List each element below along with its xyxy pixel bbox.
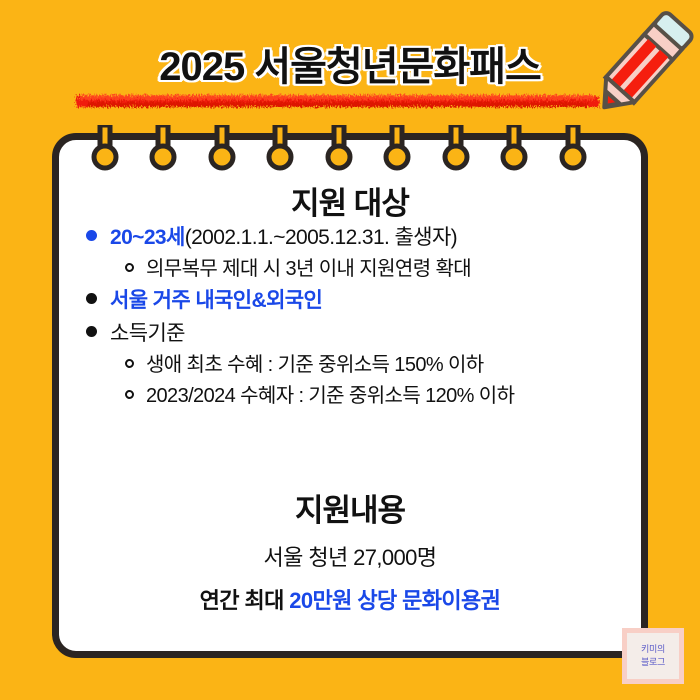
- list-item: 의무복무 제대 시 3년 이내 지원연령 확대: [59, 257, 641, 282]
- solid-bullet-icon: [86, 293, 97, 304]
- list-item-text: 2023/2024 수혜자 : 기준 중위소득 120% 이하: [146, 384, 514, 409]
- support-amount-highlight: 20만원 상당 문화이용권: [289, 588, 500, 613]
- support-amount-prefix: 연간 최대: [200, 588, 290, 613]
- watermark-line-1: 키미의: [641, 643, 665, 657]
- list-item-text: 의무복무 제대 시 3년 이내 지원연령 확대: [146, 257, 471, 282]
- content-card: 지원 대상 20~23세(2002.1.1.~2005.12.31. 출생자)의…: [52, 133, 648, 658]
- page-title: 2025 서울청년문화패스: [159, 34, 541, 92]
- support-people-count: 서울 청년 27,000명: [59, 540, 641, 572]
- hollow-bullet-icon: [125, 263, 134, 272]
- list-item-text-part: 서울 거주 내국인&외국인: [110, 289, 322, 312]
- blog-watermark: 키미의 블로그: [622, 628, 684, 684]
- list-item-text-part: 20~23세: [110, 226, 185, 249]
- list-item-text: 생애 최초 수혜 : 기준 중위소득 150% 이하: [146, 353, 484, 378]
- section-heading-support-target: 지원 대상: [59, 178, 641, 223]
- list-item-text-part: 소득기준: [110, 322, 185, 345]
- section-heading-support-content: 지원내용: [59, 485, 641, 530]
- pencil-icon: [585, 4, 697, 126]
- solid-bullet-icon: [86, 326, 97, 337]
- list-item-text: 서울 거주 내국인&외국인: [110, 288, 322, 314]
- list-item-text-part: (2002.1.1.~2005.12.31. 출생자): [185, 226, 457, 249]
- red-marker-stroke-icon: [74, 93, 601, 110]
- list-item-text: 소득기준: [110, 321, 185, 347]
- support-target-list: 20~23세(2002.1.1.~2005.12.31. 출생자)의무복무 제대…: [59, 225, 641, 415]
- list-item-text-part: 의무복무 제대 시 3년 이내 지원연령 확대: [146, 258, 471, 280]
- poster-root: 2025 서울청년문화패스: [0, 0, 700, 700]
- list-item: 생애 최초 수혜 : 기준 중위소득 150% 이하: [59, 353, 641, 378]
- list-item-text-part: 2023/2024 수혜자 : 기준 중위소득 120% 이하: [146, 385, 514, 407]
- list-item-text-part: 생애 최초 수혜 : 기준 중위소득 150% 이하: [146, 354, 484, 376]
- list-item: 서울 거주 내국인&외국인: [59, 288, 641, 314]
- hollow-bullet-icon: [125, 390, 134, 399]
- list-item: 2023/2024 수혜자 : 기준 중위소득 120% 이하: [59, 384, 641, 409]
- watermark-line-2: 블로그: [641, 656, 665, 670]
- list-item-text: 20~23세(2002.1.1.~2005.12.31. 출생자): [110, 225, 457, 251]
- hollow-bullet-icon: [125, 359, 134, 368]
- support-amount-line: 연간 최대 20만원 상당 문화이용권: [59, 583, 641, 615]
- solid-bullet-icon: [86, 230, 97, 241]
- list-item: 소득기준: [59, 321, 641, 347]
- list-item: 20~23세(2002.1.1.~2005.12.31. 출생자): [59, 225, 641, 251]
